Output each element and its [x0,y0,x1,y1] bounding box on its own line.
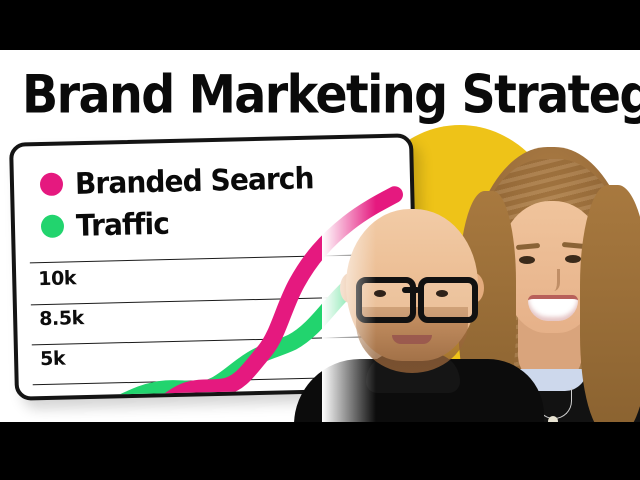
photo-edge-fade [322,145,376,422]
page-title: Brand Marketing Strategy [22,64,640,126]
presenter-photo [322,145,640,422]
letterbox-top [0,0,640,50]
woman-eye-left [519,256,535,264]
man-glasses-bridge [402,287,420,293]
letterbox-bottom [0,422,640,480]
thumbnail-canvas: Brand Marketing Strategy Branded Search … [0,0,640,480]
man-eye-right [436,290,448,297]
woman-nose [545,269,560,291]
man-glasses-lens-right [418,277,478,323]
woman-hair-front-right [580,185,640,422]
woman-eye-right [565,255,581,263]
content-band: Brand Marketing Strategy Branded Search … [0,50,640,422]
man-mouth [392,335,432,344]
